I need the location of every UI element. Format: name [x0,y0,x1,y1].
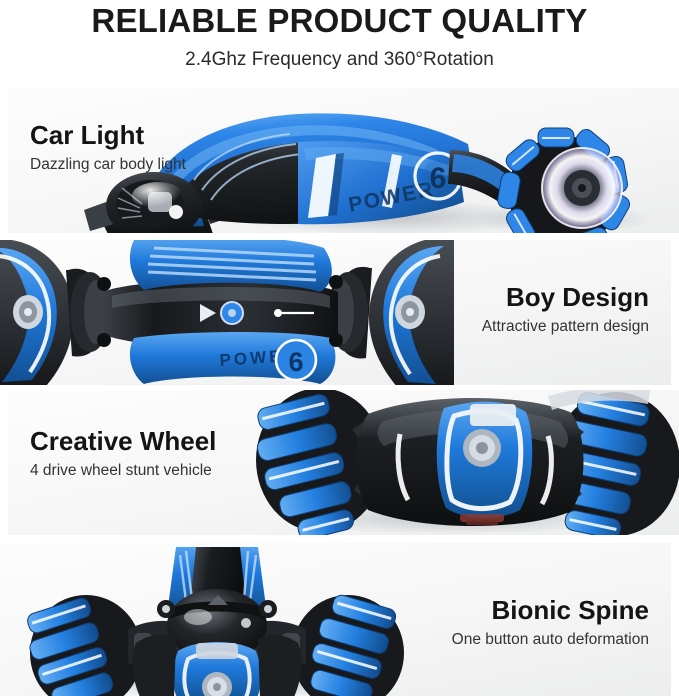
badge-6: 6 [276,340,316,380]
feature-subtitle: 4 drive wheel stunt vehicle [30,461,216,481]
svg-text:6: 6 [288,347,303,377]
tail-detail [460,514,504,525]
feature-title: Boy Design [482,282,649,312]
feature-title: Bionic Spine [452,595,649,625]
hub-button [463,429,501,467]
feature-text-bionic-spine: Bionic Spine One button auto deformation [452,595,649,650]
feature-panel-boy-design: POWER 6 Boy Design Attractive pat [0,240,671,385]
car-image-top-view: POWER 6 [0,240,454,385]
feature-panel-bionic-spine: Bionic Spine One button auto deformation [0,543,671,696]
car-image-front-deformed [10,547,430,696]
car-image-underside [248,390,679,535]
left-wheel-pod [0,240,73,385]
feature-panel-car-light: POWER 6 [8,88,679,233]
page-title: RELIABLE PRODUCT QUALITY [0,2,679,40]
svg-text:6: 6 [430,162,447,195]
left-mecanum-wheel [26,595,142,696]
feature-title: Car Light [30,120,186,150]
feature-text-boy-design: Boy Design Attractive pattern design [482,282,649,337]
feature-text-car-light: Car Light Dazzling car body light [30,120,186,175]
right-mecanum-wheel [292,593,404,696]
feature-panel-creative-wheel: Creative Wheel 4 drive wheel stunt vehic… [8,390,679,535]
illuminated-mecanum-wheel [496,126,632,233]
feature-title: Creative Wheel [30,426,216,456]
front-nose-panel [173,642,261,696]
feature-text-creative-wheel: Creative Wheel 4 drive wheel stunt vehic… [30,426,216,481]
feature-subtitle: One button auto deformation [452,630,649,650]
right-wheel-pod [369,240,454,385]
header: RELIABLE PRODUCT QUALITY 2.4Ghz Frequenc… [0,0,679,85]
page-subtitle: 2.4Ghz Frequency and 360°Rotation [0,48,679,72]
feature-subtitle: Attractive pattern design [482,317,649,337]
feature-subtitle: Dazzling car body light [30,155,186,175]
